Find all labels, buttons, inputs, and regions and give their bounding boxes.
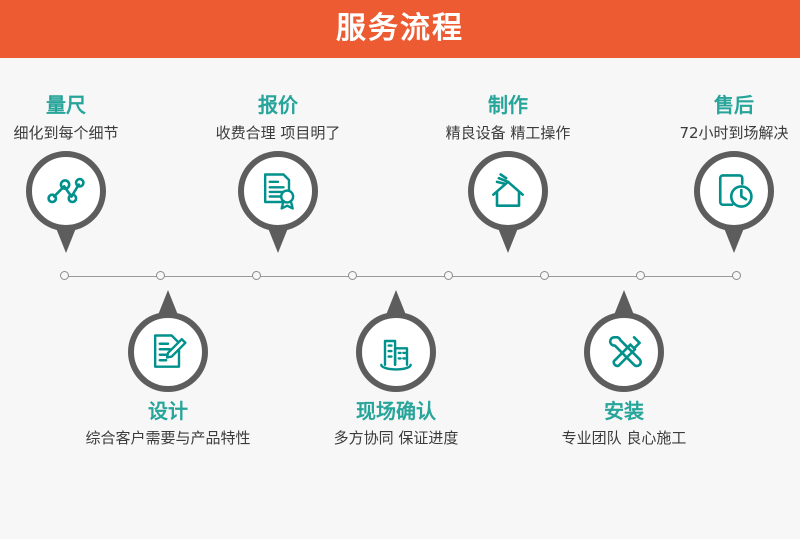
step-title: 报价 [168, 94, 388, 117]
step-description: 72小时到场解决 [624, 124, 800, 142]
timeline-dot [348, 271, 357, 280]
timeline-dot [252, 271, 261, 280]
step-description: 精良设备 精工操作 [398, 124, 618, 142]
document-pencil-icon [146, 330, 190, 374]
step-description: 专业团队 良心施工 [514, 429, 734, 447]
page-title: 服务流程 [336, 14, 464, 44]
step-pin-marker[interactable] [24, 151, 108, 253]
step-title: 设计 [58, 400, 278, 423]
pin-circle [26, 151, 106, 231]
step-title: 制作 [398, 94, 618, 117]
step-description: 综合客户需要与产品特性 [58, 429, 278, 447]
pin-circle [694, 151, 774, 231]
network-nodes-icon [44, 169, 88, 213]
step-description: 收费合理 项目明了 [168, 124, 388, 142]
timeline-dot [60, 271, 69, 280]
flow-step-installation[interactable]: 安装 专业团队 良心施工 [514, 290, 734, 447]
step-pin-marker[interactable] [354, 290, 438, 392]
pin-circle [584, 312, 664, 392]
wrench-hammer-icon [602, 330, 646, 374]
header-banner: 服务流程 [0, 0, 800, 58]
step-description: 细化到每个细节 [0, 124, 176, 142]
pin-circle [468, 151, 548, 231]
flow-step-onsite-confirmation[interactable]: 现场确认 多方协同 保证进度 [286, 290, 506, 447]
step-pin-marker[interactable] [582, 290, 666, 392]
step-pin-marker[interactable] [692, 151, 776, 253]
flow-step-design[interactable]: 设计 综合客户需要与产品特性 [58, 290, 278, 447]
house-icon [486, 169, 530, 213]
timeline-dot [636, 271, 645, 280]
flow-step-quotation[interactable]: 报价 收费合理 项目明了 [168, 94, 388, 253]
buildings-icon [374, 330, 418, 374]
flow-step-after-sales[interactable]: 售后 72小时到场解决 [624, 94, 800, 253]
service-flow-diagram: 量尺 细化到每个细节 报价 收费合理 项目明了 [0, 58, 800, 539]
step-pin-marker[interactable] [236, 151, 320, 253]
certificate-document-icon [256, 169, 300, 213]
step-title: 售后 [624, 94, 800, 117]
timeline-dot [732, 271, 741, 280]
pin-circle [356, 312, 436, 392]
step-pin-marker[interactable] [466, 151, 550, 253]
step-description: 多方协同 保证进度 [286, 429, 506, 447]
pin-circle [238, 151, 318, 231]
flow-step-measure[interactable]: 量尺 细化到每个细节 [0, 94, 176, 253]
step-title: 现场确认 [286, 400, 506, 423]
timeline-dot [444, 271, 453, 280]
timeline-dot [540, 271, 549, 280]
step-title: 量尺 [0, 94, 176, 117]
timeline-dot [156, 271, 165, 280]
pin-circle [128, 312, 208, 392]
flow-step-production[interactable]: 制作 精良设备 精工操作 [398, 94, 618, 253]
step-pin-marker[interactable] [126, 290, 210, 392]
step-title: 安装 [514, 400, 734, 423]
document-clock-icon [712, 169, 756, 213]
